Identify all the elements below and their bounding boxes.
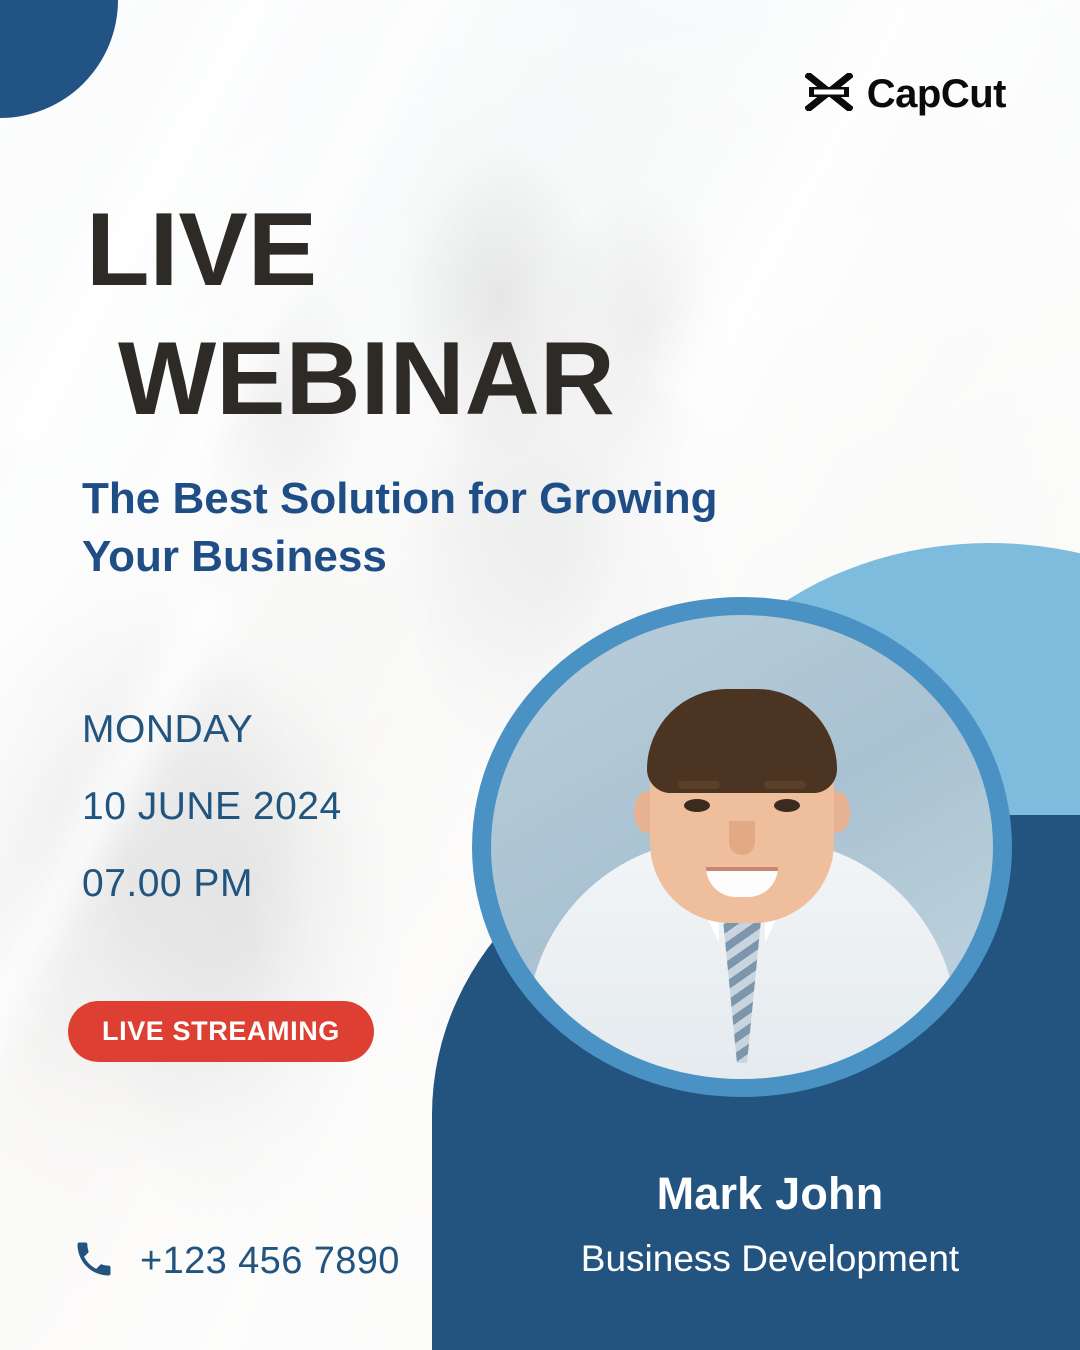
speaker-portrait (472, 597, 1012, 1097)
title-line-2: WEBINAR (118, 315, 706, 444)
phone-icon (72, 1237, 116, 1286)
capcut-bowtie-icon (805, 73, 853, 116)
portrait-eye-left (684, 799, 710, 812)
webinar-poster: CapCut LIVE WEBINAR The Best Solution fo… (0, 0, 1080, 1350)
portrait-eye-right (774, 799, 800, 812)
page-title: LIVE WEBINAR (86, 186, 706, 444)
speaker-info: Mark John Business Development (460, 1168, 1080, 1280)
contact-phone[interactable]: +123 456 7890 (72, 1237, 400, 1286)
speaker-name: Mark John (460, 1168, 1080, 1220)
portrait-nose (729, 821, 755, 855)
subtitle-line-1: The Best Solution for Growing (82, 470, 862, 528)
title-line-1: LIVE (86, 192, 317, 308)
capcut-logo: CapCut (805, 72, 1006, 117)
page-subtitle: The Best Solution for Growing Your Busin… (82, 470, 862, 586)
capcut-wordmark: CapCut (867, 72, 1006, 117)
phone-number: +123 456 7890 (140, 1240, 400, 1283)
portrait-photo (491, 615, 993, 1079)
schedule-day: MONDAY (82, 710, 342, 749)
portrait-hair (647, 689, 837, 793)
portrait-eyebrow-right (764, 781, 806, 789)
subtitle-line-2: Your Business (82, 528, 862, 586)
event-schedule: MONDAY 10 JUNE 2024 07.00 PM (82, 710, 342, 941)
portrait-eyebrow-left (678, 781, 720, 789)
schedule-date: 10 JUNE 2024 (82, 787, 342, 826)
speaker-role: Business Development (460, 1238, 1080, 1280)
schedule-time: 07.00 PM (82, 864, 342, 903)
live-streaming-badge[interactable]: LIVE STREAMING (68, 1001, 374, 1062)
